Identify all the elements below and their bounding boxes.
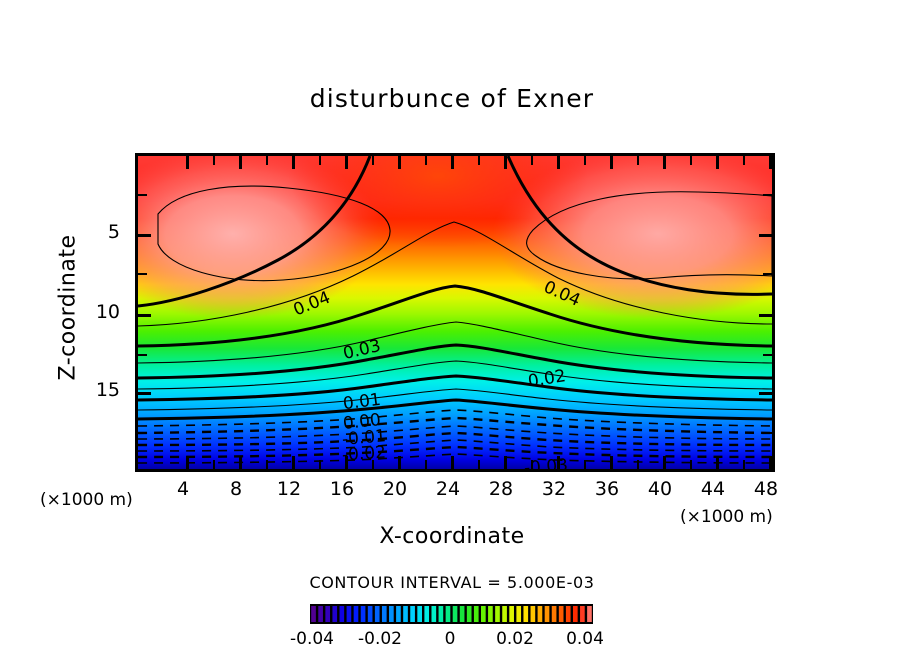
- x-tick-bottom-minor: [637, 460, 639, 469]
- x-tick-top: [663, 156, 666, 169]
- x-tick-top-minor: [213, 156, 215, 165]
- x-tick-top: [186, 156, 189, 169]
- colorbar-cell: [502, 606, 507, 622]
- x-tick-bottom: [663, 456, 666, 469]
- y-tick-right-minor: [763, 273, 772, 275]
- colorbar-cell: [446, 606, 451, 622]
- colorbar-cell: [516, 606, 521, 622]
- colorbar-cell: [460, 606, 465, 622]
- colorbar-cell: [332, 606, 337, 622]
- x-tick-top: [610, 156, 613, 169]
- colorbar-cell: [424, 606, 429, 622]
- colorbar-cell: [559, 606, 564, 622]
- y-tick-right-minor: [763, 194, 772, 196]
- colorbar-cell: [382, 606, 387, 622]
- colorbar-cell: [474, 606, 479, 622]
- colorbar-cell: [361, 606, 366, 622]
- y-tick-right-minor: [763, 354, 772, 356]
- colorbar-tick-label: 0.02: [480, 629, 550, 649]
- x-tick-label: 16: [312, 478, 372, 500]
- x-tick-top: [239, 156, 242, 169]
- colorbar-cell: [403, 606, 408, 622]
- x-tick-label: 20: [365, 478, 425, 500]
- colorbar-cell: [396, 606, 401, 622]
- x-axis-unit: (×1000 m): [680, 507, 773, 527]
- x-tick-top: [345, 156, 348, 169]
- contour-field-svg: [138, 156, 772, 469]
- colorbar-cell: [545, 606, 550, 622]
- y-tick-label: 15: [80, 379, 120, 401]
- colorbar-cell: [488, 606, 493, 622]
- colorbar-cell: [410, 606, 415, 622]
- y-tick-left: [138, 234, 151, 237]
- colorbar-cell: [573, 606, 578, 622]
- x-tick-top: [451, 156, 454, 169]
- x-tick-bottom: [292, 456, 295, 469]
- contour-interval-label: CONTOUR INTERVAL = 5.000E-03: [0, 573, 904, 592]
- colorbar-cell: [481, 606, 486, 622]
- y-tick-right: [759, 314, 772, 317]
- x-tick-bottom: [239, 456, 242, 469]
- colorbar-cell: [431, 606, 436, 622]
- colorbar-cell: [587, 606, 592, 622]
- x-tick-top: [398, 156, 401, 169]
- x-tick-label: 8: [206, 478, 266, 500]
- x-tick-top-minor: [637, 156, 639, 165]
- x-tick-top-minor: [690, 156, 692, 165]
- colorbar-cell: [318, 606, 323, 622]
- x-tick-top-minor: [743, 156, 745, 165]
- colorbar-cell: [311, 606, 316, 622]
- x-tick-label: 4: [153, 478, 213, 500]
- x-tick-bottom-minor: [690, 460, 692, 469]
- colorbar-cell: [453, 606, 458, 622]
- x-tick-bottom: [398, 456, 401, 469]
- x-tick-bottom: [557, 456, 560, 469]
- colorbar-cell: [531, 606, 536, 622]
- y-axis-title: Z-coordinate: [56, 188, 81, 428]
- colorbar-cell: [509, 606, 514, 622]
- x-tick-bottom: [504, 456, 507, 469]
- x-tick-label: 36: [577, 478, 637, 500]
- contour-field: [138, 156, 772, 469]
- x-tick-bottom-minor: [213, 460, 215, 469]
- y-axis-unit: (×1000 m): [40, 490, 133, 510]
- colorbar-cell: [523, 606, 528, 622]
- x-tick-label: 48: [736, 478, 796, 500]
- colorbar-cell: [340, 606, 345, 622]
- x-tick-label: 12: [259, 478, 319, 500]
- x-tick-top-minor: [584, 156, 586, 165]
- colorbar-cell: [538, 606, 543, 622]
- colorbar-tick-label: -0.04: [277, 629, 347, 649]
- y-tick-left: [138, 392, 151, 395]
- colorbar-cell: [389, 606, 394, 622]
- colorbar-tick-label: 0: [415, 629, 485, 649]
- colorbar-cell: [439, 606, 444, 622]
- x-tick-bottom: [345, 456, 348, 469]
- x-tick-bottom: [610, 456, 613, 469]
- colorbar-tick-labels: -0.04 -0.02 0 0.02 0.04: [280, 629, 624, 653]
- x-tick-bottom-minor: [319, 460, 321, 469]
- colorbar-cell: [566, 606, 571, 622]
- colorbar[interactable]: [310, 604, 593, 624]
- chart-title: disturbunce of Exner: [0, 84, 904, 113]
- colorbar-cell: [368, 606, 373, 622]
- x-tick-bottom: [186, 456, 189, 469]
- x-tick-bottom-minor: [478, 460, 480, 469]
- y-tick-left: [138, 314, 151, 317]
- y-tick-left-minor: [138, 432, 147, 434]
- y-tick-right: [759, 234, 772, 237]
- x-tick-top-minor: [425, 156, 427, 165]
- x-tick-bottom-minor: [584, 460, 586, 469]
- x-tick-top: [557, 156, 560, 169]
- colorbar-cell: [580, 606, 585, 622]
- x-tick-top-minor: [478, 156, 480, 165]
- contour-label: -0.02: [341, 442, 386, 465]
- colorbar-cell: [354, 606, 359, 622]
- contour-plot-area: 0.04 0.04 0.03 0.02 0.01 0.00 -0.01 -0.0…: [135, 153, 775, 472]
- x-tick-bottom-minor: [743, 460, 745, 469]
- x-tick-bottom: [769, 456, 772, 469]
- x-tick-bottom-minor: [372, 460, 374, 469]
- colorbar-swatches: [310, 604, 593, 624]
- colorbar-tick-label: 0.04: [550, 629, 620, 649]
- colorbar-cell: [552, 606, 557, 622]
- y-tick-right: [759, 392, 772, 395]
- x-tick-label: 40: [630, 478, 690, 500]
- x-tick-label: 24: [418, 478, 478, 500]
- y-tick-right-minor: [763, 432, 772, 434]
- x-tick-bottom-minor: [425, 460, 427, 469]
- x-tick-top-minor: [319, 156, 321, 165]
- x-tick-top: [769, 156, 772, 169]
- colorbar-cell: [325, 606, 330, 622]
- x-tick-label: 28: [471, 478, 531, 500]
- y-tick-label: 10: [80, 301, 120, 323]
- x-tick-top: [292, 156, 295, 169]
- colorbar-cell: [467, 606, 472, 622]
- colorbar-cell: [417, 606, 422, 622]
- colorbar-tick-label: -0.02: [345, 629, 415, 649]
- y-tick-left-minor: [138, 354, 147, 356]
- x-tick-top: [504, 156, 507, 169]
- x-tick-label: 32: [524, 478, 584, 500]
- y-tick-left-minor: [138, 194, 147, 196]
- x-tick-label: 44: [683, 478, 743, 500]
- x-tick-bottom: [451, 456, 454, 469]
- x-tick-bottom: [716, 456, 719, 469]
- x-tick-bottom-minor: [266, 460, 268, 469]
- x-tick-top-minor: [266, 156, 268, 165]
- x-axis-title: X-coordinate: [0, 524, 904, 549]
- x-tick-top-minor: [372, 156, 374, 165]
- x-tick-bottom-minor: [531, 460, 533, 469]
- colorbar-cell: [347, 606, 352, 622]
- x-tick-top-minor: [531, 156, 533, 165]
- x-tick-top: [716, 156, 719, 169]
- y-tick-left-minor: [138, 273, 147, 275]
- colorbar-cell: [495, 606, 500, 622]
- colorbar-cell: [375, 606, 380, 622]
- y-tick-label: 5: [80, 221, 120, 243]
